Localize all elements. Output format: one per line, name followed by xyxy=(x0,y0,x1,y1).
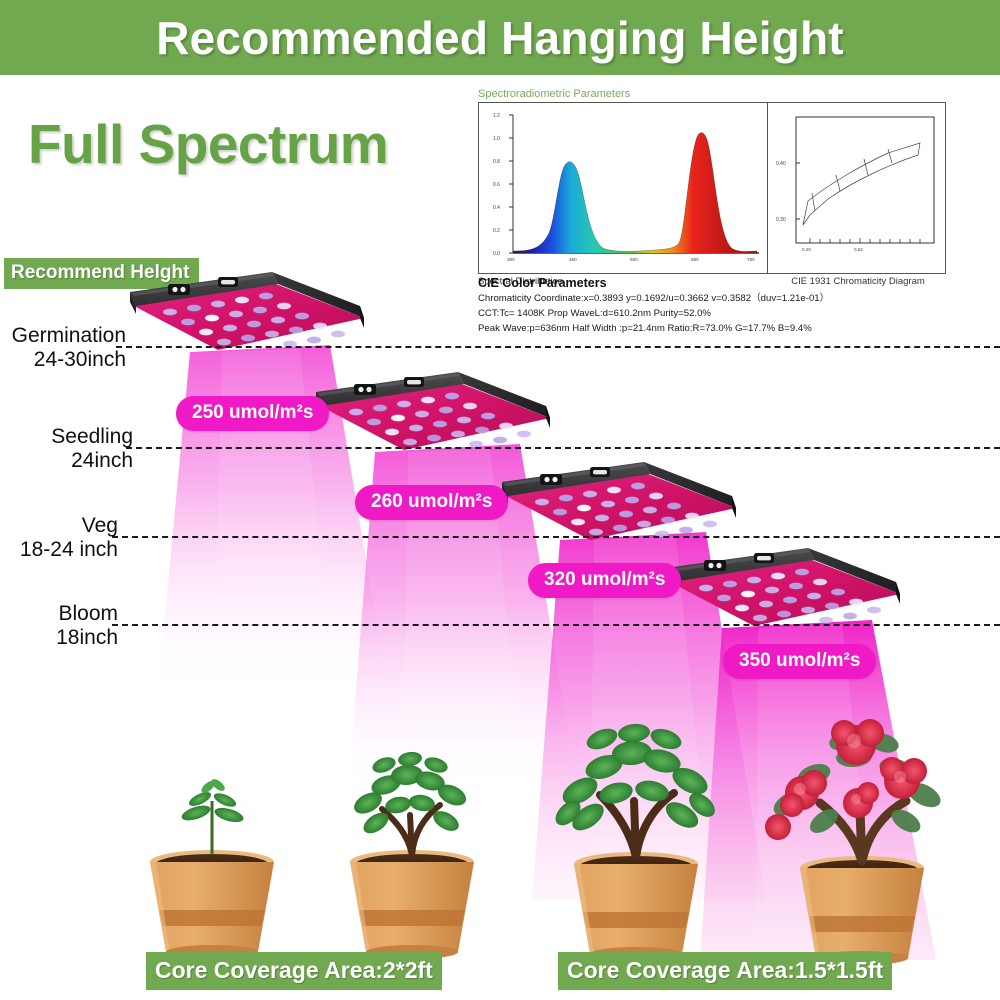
stage-name: Veg xyxy=(0,514,118,538)
svg-text:0.0: 0.0 xyxy=(493,251,500,257)
stage-label-seedling: Seedling 24inch xyxy=(0,425,133,472)
coverage-text: Core Coverage Area:1.5*1.5ft xyxy=(567,957,883,983)
ppfd-badge-1: 250 umol/m²s xyxy=(176,396,329,431)
svg-text:580: 580 xyxy=(630,257,638,262)
dashed-line-veg xyxy=(112,536,1000,538)
cie-parameters-heading: CIE Color Parameters xyxy=(478,276,950,290)
svg-text:780: 780 xyxy=(747,257,755,262)
svg-text:1.2: 1.2 xyxy=(493,113,500,119)
dashed-line-germination xyxy=(116,346,1000,348)
page-title: Recommended Hanging Height xyxy=(156,11,844,65)
coverage-label-left: Core Coverage Area:2*2ft xyxy=(146,952,442,990)
svg-text:0.20: 0.20 xyxy=(802,247,811,252)
cie-line-cct: CCT:Tc= 1408K Prop WaveL:d=610.2nm Purit… xyxy=(478,307,950,322)
stage-label-veg: Veg 18-24 inch xyxy=(0,514,118,561)
plant-vegetative xyxy=(350,750,474,959)
svg-text:0.8: 0.8 xyxy=(493,159,500,165)
svg-text:0.62: 0.62 xyxy=(854,247,863,252)
stage-height: 24inch xyxy=(0,449,133,473)
svg-text:0.4: 0.4 xyxy=(493,205,500,211)
plant-large-vegetative xyxy=(551,722,719,961)
subtitle-full-spectrum: Full Spectrum xyxy=(28,112,388,176)
stage-label-germination: Germination 24-30inch xyxy=(0,324,126,371)
spectroradiometric-panel: Spectroradiometric Parameters xyxy=(478,88,950,346)
recommend-height-label: Recommend Helght xyxy=(11,262,189,283)
stage-name: Bloom xyxy=(0,602,118,626)
spec-chart-box: 0.0 0.2 0.4 0.6 0.8 1.0 1.2 380 480 580 … xyxy=(478,102,946,274)
ppfd-badge-2: 260 umol/m²s xyxy=(355,485,508,520)
svg-text:680: 680 xyxy=(691,257,699,262)
infographic-root: Recommended Hanging Height Full Spectrum… xyxy=(0,0,1000,1000)
header-band: Recommended Hanging Height xyxy=(0,0,1000,75)
led-panel-3 xyxy=(502,462,736,540)
stage-name: Seedling xyxy=(0,425,133,449)
dashed-line-bloom xyxy=(112,624,1000,626)
ppfd-badge-3: 320 umol/m²s xyxy=(528,563,681,598)
stage-name: Germination xyxy=(0,324,126,348)
stage-height: 24-30inch xyxy=(0,348,126,372)
cie-line-peak-wave: Peak Wave:p=636nm Half Width :p=21.4nm R… xyxy=(478,322,950,337)
stage-height: 18-24 inch xyxy=(0,538,118,562)
spectral-distribution-chart: 0.0 0.2 0.4 0.6 0.8 1.0 1.2 380 480 580 … xyxy=(479,103,768,273)
svg-text:380: 380 xyxy=(507,257,515,262)
svg-text:480: 480 xyxy=(569,257,577,262)
recommend-height-badge: Recommend Helght xyxy=(4,258,199,289)
stage-label-bloom: Bloom 18inch xyxy=(0,602,118,649)
led-panel-4 xyxy=(666,548,900,626)
stage-height: 18inch xyxy=(0,626,118,650)
svg-text:0.30: 0.30 xyxy=(776,217,786,223)
led-panel-2 xyxy=(316,372,550,450)
svg-text:1.0: 1.0 xyxy=(493,136,500,142)
svg-text:0.6: 0.6 xyxy=(493,182,500,188)
flower-cluster xyxy=(765,719,927,840)
coverage-text: Core Coverage Area:2*2ft xyxy=(155,957,433,983)
cie-color-parameters: CIE Color Parameters Chromaticity Coordi… xyxy=(478,276,950,337)
cie-chromaticity-chart: 0.40 0.30 0.20 xyxy=(768,103,946,273)
coverage-label-right: Core Coverage Area:1.5*1.5ft xyxy=(558,952,892,990)
dashed-line-seedling xyxy=(126,447,1000,449)
svg-text:0.2: 0.2 xyxy=(493,228,500,234)
cie-line-chromaticity: Chromaticity Coordinate:x=0.3893 y=0.169… xyxy=(478,292,950,307)
spec-panel-title: Spectroradiometric Parameters xyxy=(478,88,950,100)
plant-seedling xyxy=(150,777,274,959)
svg-text:0.40: 0.40 xyxy=(776,161,786,167)
ppfd-badge-4: 350 umol/m²s xyxy=(723,644,876,679)
plant-flowering xyxy=(765,719,945,965)
